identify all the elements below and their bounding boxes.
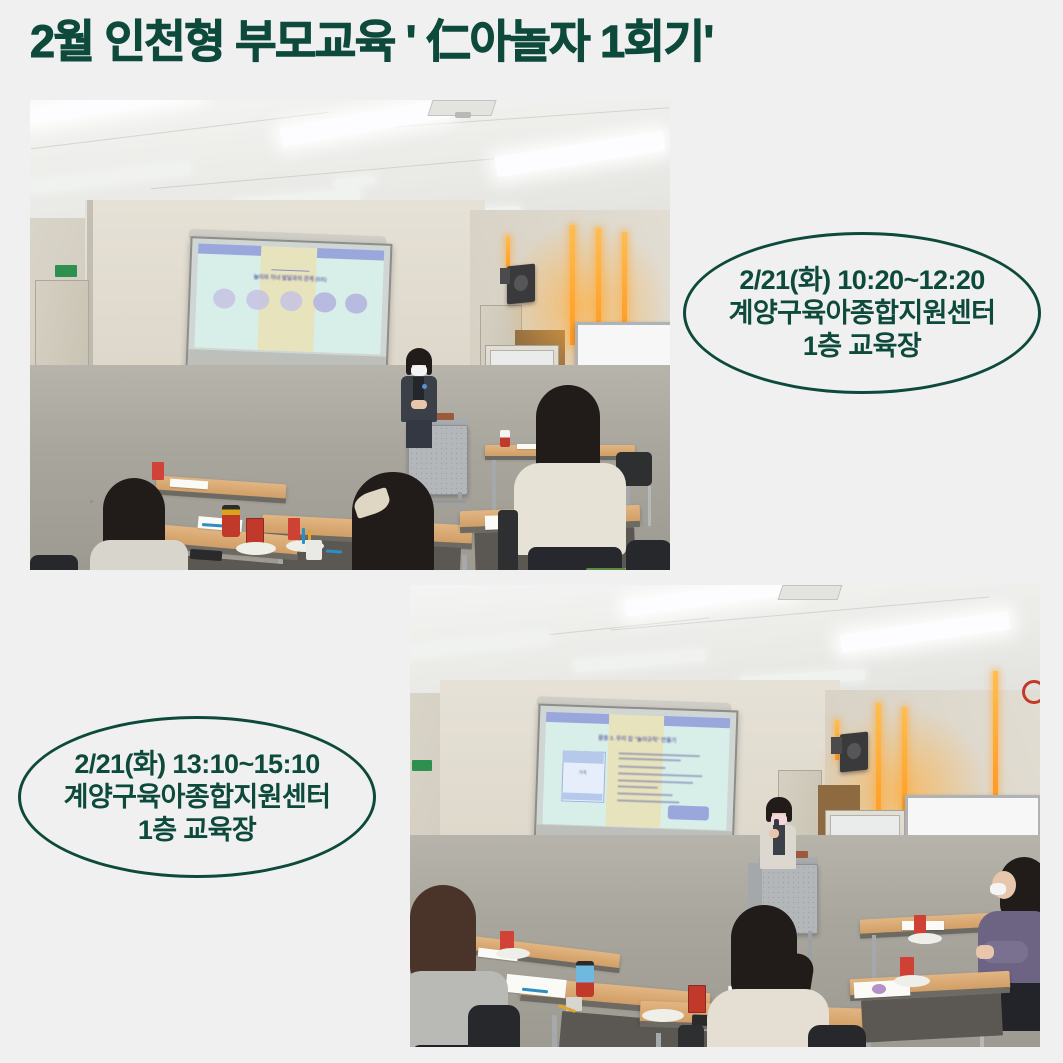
- speaker-cone: [514, 274, 528, 291]
- plate: [894, 975, 930, 987]
- slide-badge: [246, 289, 269, 310]
- snack-box: [914, 915, 926, 935]
- session-1-datetime: 2/21(화) 10:20~12:20: [739, 264, 984, 297]
- page-title: 2월 인천형 부모교육 ' 仁아놀자 1회기': [30, 10, 1030, 74]
- photo-session-2: 활동 3. 우리 집 "놀이규칙" 만들기 가족: [410, 585, 1040, 1047]
- attendee-hair: [352, 472, 434, 570]
- session-2-callout: 2/21(화) 13:10~15:10 계양구육아종합지원센터 1층 교육장: [18, 716, 376, 878]
- attendee-right: [500, 385, 630, 570]
- exit-sign-icon: [55, 265, 77, 277]
- slide-tab: [605, 714, 664, 828]
- ceiling-sensor: [455, 112, 471, 118]
- presenter-hair: [426, 358, 432, 375]
- attendee-hand: [976, 945, 994, 959]
- handout-graphic: [872, 984, 886, 994]
- classroom-scene-bottom: 활동 3. 우리 집 "놀이규칙" 만들기 가족: [410, 585, 1040, 1047]
- speaker-bracket: [500, 268, 510, 284]
- session-1-callout: 2/21(화) 10:20~12:20 계양구육아종합지원센터 1층 교육장: [683, 232, 1041, 394]
- cup: [306, 540, 322, 560]
- classroom-scene-top: 놀이와 자녀 발달과의 관계 (5/5): [30, 100, 670, 570]
- slide-content: 활동 3. 우리 집 "놀이규칙" 만들기 가족: [542, 711, 730, 829]
- snack-box: [288, 518, 300, 540]
- speaker: [840, 732, 868, 773]
- session-2-room: 1층 교육장: [138, 814, 256, 847]
- table-leg: [656, 1033, 661, 1047]
- slide-diagram-base: [562, 793, 603, 801]
- presenter-hands: [411, 400, 427, 409]
- plate: [642, 1009, 684, 1022]
- slide-content: 놀이와 자녀 발달과의 관계 (5/5): [194, 244, 384, 355]
- attendee-sweater: [514, 463, 626, 555]
- table-modesty-panel: [861, 993, 1003, 1042]
- ceiling-vent: [778, 585, 843, 600]
- exit-sign-icon: [412, 760, 432, 771]
- tumbler: [222, 505, 240, 537]
- table-leg: [552, 1015, 557, 1047]
- chair-back: [498, 510, 518, 570]
- presenter-trousers: [406, 420, 432, 448]
- session-1-room: 1층 교육장: [803, 330, 921, 363]
- coat-on-chair: [30, 555, 78, 570]
- wall-light-strip: [622, 232, 627, 332]
- face-mask: [411, 365, 427, 376]
- projector-screen: 활동 3. 우리 집 "놀이규칙" 만들기 가족: [534, 704, 739, 855]
- speaker: [507, 264, 535, 305]
- slide-badge: [213, 288, 236, 309]
- attendee-left: [78, 478, 200, 570]
- slide-badge: [313, 292, 336, 313]
- chair-leg: [648, 486, 651, 526]
- presenter-hand: [769, 829, 779, 838]
- table-leg: [492, 460, 496, 510]
- backpack: [626, 540, 670, 570]
- speaker-bracket: [831, 737, 842, 754]
- speaker-cone: [847, 742, 861, 759]
- attendee-trousers: [528, 547, 622, 570]
- projector-screen: 놀이와 자녀 발달과의 관계 (5/5): [186, 236, 393, 378]
- face-mask: [990, 883, 1006, 895]
- slide-badge: [280, 291, 303, 312]
- presenter: [755, 797, 801, 887]
- pen: [302, 528, 305, 544]
- fire-alarm-icon: [1022, 680, 1040, 704]
- wall-light-strip: [993, 671, 998, 796]
- slide-diagram-label: 가족: [568, 769, 598, 776]
- session-2-venue: 계양구육아종합지원센터: [64, 781, 331, 814]
- presenter-badge: [422, 384, 427, 389]
- presenter: [395, 348, 441, 438]
- attendee-hair: [410, 885, 476, 985]
- backpack: [808, 1025, 866, 1047]
- photo-session-1: 놀이와 자녀 발달과의 관계 (5/5): [30, 100, 670, 570]
- tumbler: [576, 961, 594, 997]
- slide-callout-box: [668, 805, 709, 820]
- attendee-center: [330, 470, 470, 570]
- chair-back: [678, 1025, 704, 1047]
- attendee-sweater: [90, 540, 188, 570]
- coat-on-chair: [468, 1005, 520, 1047]
- plate: [236, 542, 276, 555]
- session-1-venue: 계양구육아종합지원센터: [729, 297, 996, 330]
- session-2-datetime: 2/21(화) 13:10~15:10: [74, 748, 319, 781]
- chair-cushion: [586, 568, 626, 570]
- slide-badge: [345, 293, 368, 314]
- slide-diagram-cap: [563, 750, 604, 764]
- poster-canvas: 2월 인천형 부모교육 ' 仁아놀자 1회기': [0, 0, 1063, 1063]
- plate: [908, 933, 942, 944]
